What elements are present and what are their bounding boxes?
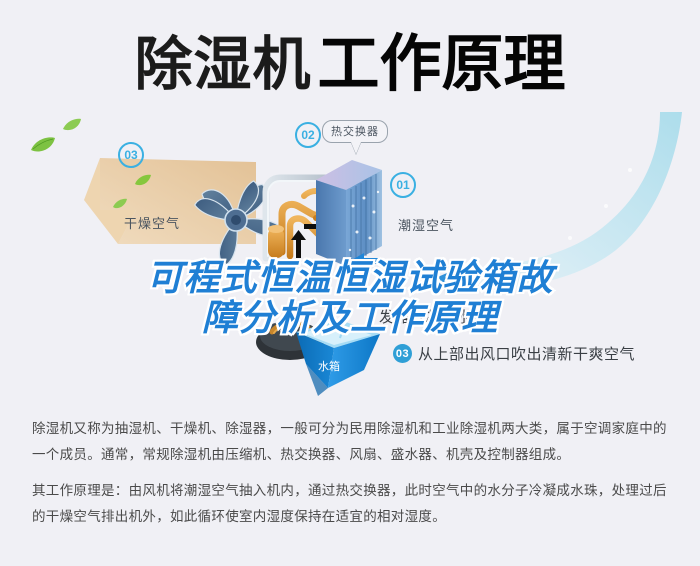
page-title: 除湿机 工作原理 (0, 26, 700, 104)
leaf-icon (134, 174, 152, 187)
step-03-text: 从上部出风口吹出清新干爽空气 (418, 343, 635, 364)
marker-02: 02 (295, 122, 321, 148)
heat-exchanger-icon (312, 158, 384, 278)
poster-page: 除湿机 工作原理 (0, 0, 700, 566)
label-humid-air: 潮湿空气 (398, 215, 454, 234)
marker-03: 03 (118, 142, 144, 168)
dehumidifier-diagram: 03 02 01 热交换器 干燥空气 潮湿空气 水箱 发器冷凝成水珠 03 从上… (0, 110, 700, 410)
body-paragraph-2: 其工作原理是：由风机将潮湿空气抽入机内，通过热交换器，此时空气中的水分子冷凝成水… (32, 478, 672, 530)
step-03-badge: 03 (393, 344, 412, 363)
heat-exchanger-callout: 热交换器 (322, 120, 388, 143)
page-title-light: 除湿机 (134, 36, 311, 94)
step-line-02: 发器冷凝成水珠 (379, 306, 488, 327)
marker-01: 01 (390, 172, 416, 198)
label-water-tank: 水箱 (318, 358, 340, 374)
body-copy: 除湿机又称为抽湿机、干燥机、除湿器，一般可分为民用除湿机和工业除湿机两大类，属于… (32, 416, 672, 530)
leaf-icon (112, 198, 128, 210)
leaf-icon (30, 136, 56, 154)
body-paragraph-1: 除湿机又称为抽湿机、干燥机、除湿器，一般可分为民用除湿机和工业除湿机两大类，属于… (32, 416, 672, 468)
page-title-bold: 工作原理 (318, 34, 566, 96)
leaf-icon (62, 118, 82, 132)
step-02-text: 发器冷凝成水珠 (379, 306, 488, 327)
label-dry-air: 干燥空气 (124, 213, 180, 232)
step-line-03: 03 从上部出风口吹出清新干爽空气 (393, 343, 635, 364)
